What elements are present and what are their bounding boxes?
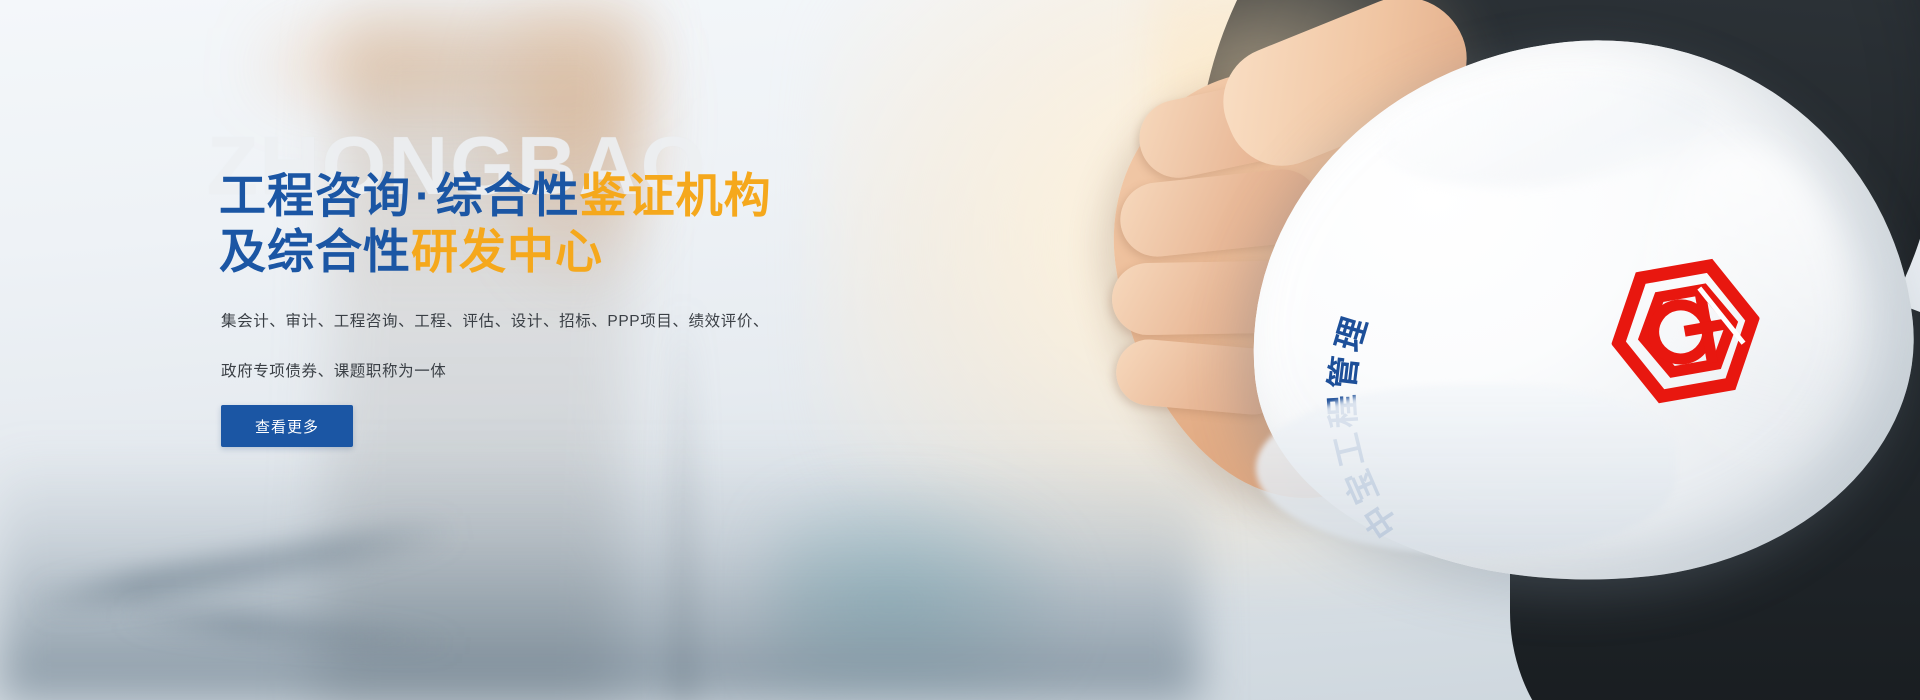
view-more-button[interactable]: 查看更多 <box>221 405 353 447</box>
headline-line1-segment-1: 工程咨询 <box>219 169 411 222</box>
zhongbao-hexagon-emblem-icon <box>1600 249 1772 413</box>
hero-content: ZHONGBAO 工程咨询·综合性鉴证机构 及综合性研发中心 集会计、审计、工程… <box>219 0 1019 700</box>
headline-separator-dot: · <box>411 169 436 222</box>
hero-banner: 中宝工程管理 <box>0 0 1920 700</box>
description-line-2: 政府专项债券、课题职称为一体 <box>221 360 841 384</box>
headline-line-1: 工程咨询·综合性鉴证机构 <box>219 168 979 224</box>
description-line-1: 集会计、审计、工程咨询、工程、评估、设计、招标、PPP项目、绩效评价、 <box>221 310 841 334</box>
headline-line-2: 及综合性研发中心 <box>219 224 979 280</box>
helmet-brim <box>1256 385 1676 555</box>
description: 集会计、审计、工程咨询、工程、评估、设计、招标、PPP项目、绩效评价、 政府专项… <box>221 310 841 410</box>
headline-line1-segment-3: 鉴证机构 <box>580 169 772 222</box>
headline-line2-segment-2: 研发中心 <box>411 225 603 278</box>
headline: 工程咨询·综合性鉴证机构 及综合性研发中心 <box>219 168 979 280</box>
headline-line1-segment-2: 综合性 <box>436 169 580 222</box>
headline-line2-segment-1: 及综合性 <box>219 225 411 278</box>
